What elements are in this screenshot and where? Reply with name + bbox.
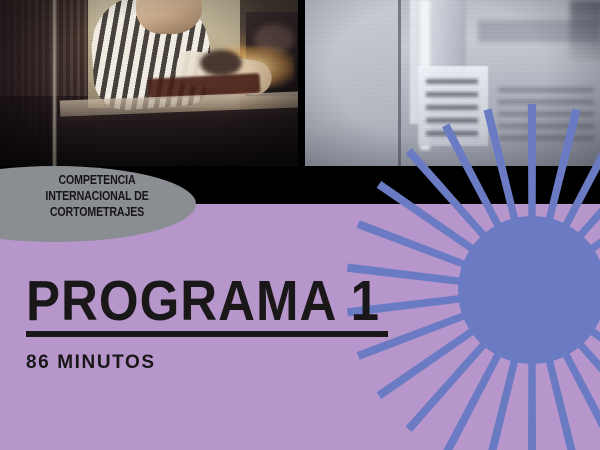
competition-badge-text: COMPETENCIA INTERNACIONAL DE CORTOMETRAJ…: [29, 172, 165, 220]
photo-divider: [298, 0, 305, 168]
sunburst-spoke: [357, 220, 472, 270]
photo-right-blurred-text: [426, 78, 478, 136]
photo-person-at-desk: [0, 0, 302, 168]
sunburst-spoke: [528, 356, 536, 450]
sunburst-spoke: [442, 347, 505, 450]
sunburst-spoke: [559, 347, 600, 450]
photo-interior-grayscale: [302, 0, 600, 168]
page-title: PROGRAMA 1: [26, 272, 395, 329]
sunburst-spoke: [592, 220, 600, 270]
photo-left-vertical-pole: [52, 0, 57, 168]
sunburst-spoke: [377, 324, 480, 399]
badge-line-1: COMPETENCIA: [29, 172, 165, 188]
photo-left-desk-front: [57, 107, 302, 168]
sunburst-spoke: [406, 337, 491, 432]
poster-canvas: COMPETENCIA INTERNACIONAL DE CORTOMETRAJ…: [0, 0, 600, 450]
photo-right-dark-corner: [570, 0, 600, 60]
photo-right-object: [498, 88, 594, 140]
badge-line-2: INTERNACIONAL DE: [29, 188, 165, 204]
photo-strip: [0, 0, 600, 168]
sunburst-core: [458, 216, 600, 364]
sunburst-spoke: [483, 353, 519, 450]
sunburst-spoke: [544, 353, 580, 450]
badge-line-3: CORTOMETRAJES: [29, 204, 165, 220]
photo-right-wall-edge: [398, 0, 401, 168]
photo-left-person-hand: [200, 50, 242, 76]
runtime-label: 86 MINUTOS: [26, 352, 156, 374]
sunburst-spoke: [573, 337, 600, 432]
photo-right-wall: [302, 0, 398, 168]
sunburst-spoke: [584, 324, 600, 399]
sunburst-spoke: [592, 310, 600, 360]
title-block: PROGRAMA 1: [26, 272, 388, 337]
